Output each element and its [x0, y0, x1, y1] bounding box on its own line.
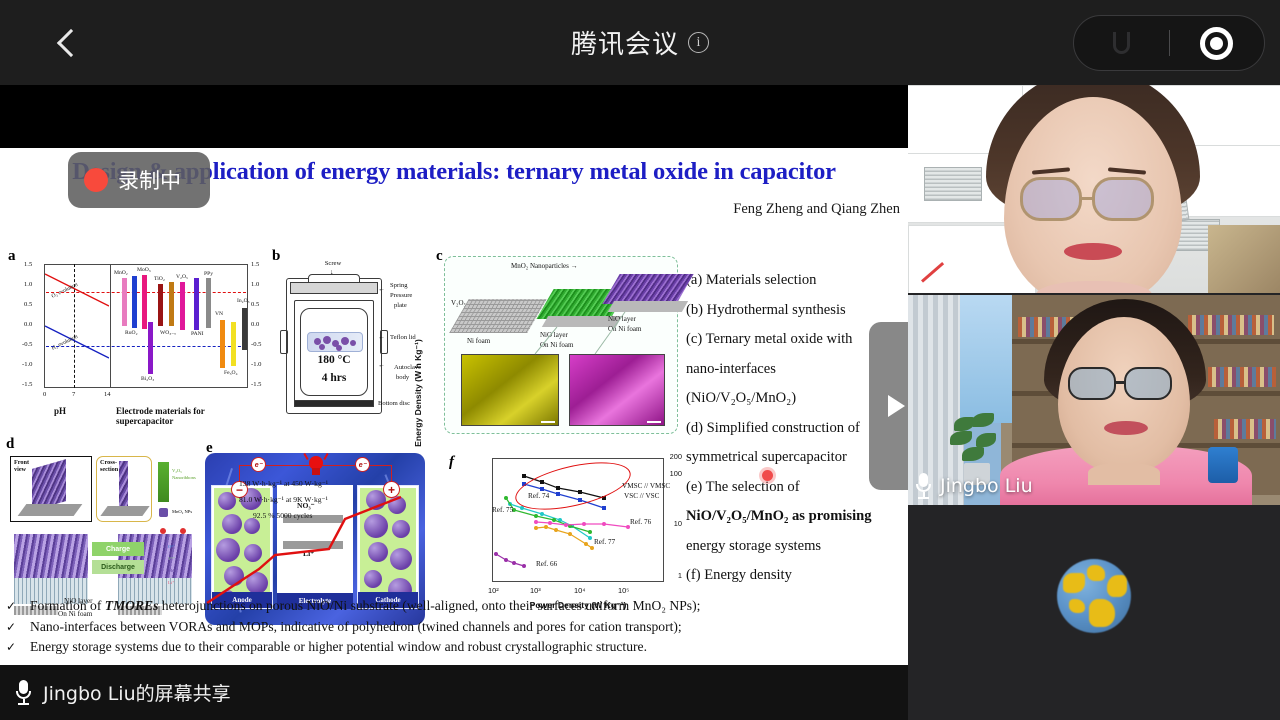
panel-a-bar — [180, 282, 185, 330]
panel-f-series-label: Ref. 75 — [492, 506, 513, 514]
panel-e-ion-label: Li⁺ — [303, 549, 314, 558]
presentation-slide: Design & application of energy materials… — [0, 148, 908, 665]
book-row — [1214, 419, 1276, 439]
panel-a-ytick-right: 1.0 — [251, 281, 259, 288]
panel-c-label: On Ni foam — [540, 341, 573, 350]
recording-label: 录制中 — [118, 165, 181, 195]
panel-c-label: NiO layer — [540, 331, 568, 340]
video-2-name-badge: Jingbo Liu — [916, 473, 1033, 499]
panel-b-bottom-disc — [294, 400, 374, 407]
panel-a-bar — [231, 322, 236, 366]
panel-a-bar-label: MnO₂ — [114, 270, 128, 276]
top-bar: 腾讯会议 i — [0, 0, 1280, 85]
video-tile-2[interactable]: Jingbo Liu — [908, 295, 1280, 505]
panel-a-h2-line — [45, 324, 109, 360]
bullet-text: Nano-interfaces between VORAs and MOPs, … — [30, 617, 682, 638]
panel-a-ytick: 0.0 — [24, 321, 32, 328]
share-status-label: Jingbo Liu的屏幕共享 — [43, 679, 231, 706]
panel-f-xtick: 10⁴ — [574, 586, 585, 595]
panel-a-xtick: 0 — [43, 391, 46, 398]
panel-a-xtick: 14 — [104, 391, 111, 398]
panel-a-ytick-right: 0.0 — [251, 321, 259, 328]
laser-pointer-dot — [762, 470, 773, 481]
panel-d-label: section — [100, 466, 118, 473]
info-icon[interactable]: i — [688, 32, 709, 53]
recording-badge[interactable]: 录制中 — [68, 152, 210, 208]
panel-a-ytick-right: -1.5 — [251, 381, 261, 388]
panel-a-bar-label: MoO₃ — [137, 267, 151, 273]
letterbox-band — [0, 85, 908, 148]
bullet-row: ✓ Formation of TMOREs heterojunctions on… — [6, 596, 906, 617]
slide-bullets: ✓ Formation of TMOREs heterojunctions on… — [6, 596, 906, 658]
panel-c-sem-image-yellow — [461, 354, 559, 426]
eyeglass-lens — [1124, 367, 1172, 400]
panel-d-crystal-left — [14, 534, 88, 578]
neck — [1088, 463, 1160, 485]
panel-a-bar-label: RuO₂ — [125, 330, 138, 336]
video-2-name-label: Jingbo Liu — [940, 475, 1033, 497]
dynamic-island — [1073, 15, 1265, 71]
panel-d-ion-legend: V⁵⁺ — [168, 556, 175, 562]
panel-f-series-label: VSC // VSC — [624, 492, 659, 500]
panel-a-bar — [122, 278, 127, 326]
panel-a-ytick: -1.0 — [22, 361, 32, 368]
panel-a-title: Electrode materials for supercapacitor — [116, 406, 258, 426]
wall-panel — [1208, 225, 1280, 293]
panel-a-bar — [220, 320, 225, 368]
panel-d-legend-label: V₂O₅ — [172, 468, 182, 473]
panel-d-front-substrate — [18, 504, 83, 516]
panel-f-series-label: Ref. 76 — [630, 518, 651, 526]
panel-a-bar — [242, 308, 247, 350]
panel-a-xtick: 7 — [72, 391, 75, 398]
slide-authors: Feng Zheng and Qiang Zhen — [680, 201, 900, 218]
panel-a-ytick: 1.5 — [24, 261, 32, 268]
panel-b-temp: 180 °C — [300, 356, 368, 364]
panel-a-bar-label: PPy — [204, 271, 213, 277]
panel-b-label: Screw — [308, 260, 358, 268]
book-row — [1188, 315, 1274, 335]
panel-a-ytick: 1.0 — [24, 281, 32, 288]
legend-line: (a) Materials selection — [686, 266, 904, 296]
panel-c-mno2-purple-slab — [611, 272, 685, 312]
lips — [1104, 421, 1148, 435]
legend-line: NiO/V₂O₅/MnO₂ as promising — [686, 502, 904, 532]
panel-f-series-label: Ref. 66 — [536, 560, 557, 568]
panel-f-ylabel: Energy Density (W h Kg⁻¹) — [413, 329, 424, 457]
panel-a-bar-label: VN — [215, 311, 223, 317]
panel-e-bulb-icon — [305, 453, 327, 477]
panel-a-xlabel: pH — [54, 406, 66, 416]
panel-b-label: Bottom disc — [378, 400, 438, 408]
panel-d-v2o5-swatch — [158, 462, 169, 502]
share-status-bar: Jingbo Liu的屏幕共享 — [0, 665, 908, 720]
eyeglass-lens — [1020, 177, 1082, 221]
scale-bar — [541, 421, 555, 423]
check-icon: ✓ — [6, 596, 20, 617]
panel-d-ion-legend: Mn⁴⁺ — [168, 568, 178, 574]
panel-a-ytick: -1.5 — [22, 381, 32, 388]
panel-a-h2-level — [46, 346, 246, 347]
panel-a-bar — [206, 278, 211, 328]
panel-a-bar-label: WO₃₋ₓ — [160, 330, 176, 336]
panel-e-electron-node: e⁻ — [251, 457, 266, 472]
panel-e-cation-arrow — [283, 541, 343, 549]
panel-a-o2-line — [45, 272, 109, 308]
bullet-row: ✓ Energy storage systems due to their co… — [6, 637, 906, 658]
panel-c-label: Ni foam — [467, 337, 490, 346]
globe-avatar-icon — [1057, 559, 1131, 633]
panel-a-divider — [110, 264, 111, 388]
legend-line: (b) Hydrothermal synthesis — [686, 296, 904, 326]
panel-d-label: view — [14, 466, 26, 473]
check-icon: ✓ — [6, 637, 20, 658]
left-arrow-icon: ← — [378, 362, 385, 369]
microphone-icon[interactable] — [16, 680, 31, 706]
panel-label-c: c — [436, 248, 443, 265]
panel-b-spring-plate — [290, 282, 378, 294]
eyeglass-lens — [1068, 367, 1116, 400]
panel-c-purple-array — [602, 274, 693, 304]
panel-f-xtick: 10² — [488, 586, 499, 595]
panel-d-cross-substrate — [100, 506, 149, 516]
panel-c-sem-image-magenta — [569, 354, 665, 426]
panel-a-ytick-right: -0.5 — [251, 341, 261, 348]
legend-line: energy storage systems — [686, 532, 904, 562]
panel-label-f: f — [449, 454, 454, 471]
panel-b-label: plate — [394, 302, 440, 310]
panel-a-ytick: -0.5 — [22, 341, 32, 348]
lips — [1064, 243, 1122, 260]
panel-d-legend-label: MnO₂ NPs — [172, 509, 192, 514]
panel-d-cross-wall — [119, 461, 128, 507]
panel-d-ion-legend: Li⁺ — [168, 580, 175, 586]
panel-f-series-label: VMSC // VMSC — [622, 482, 670, 490]
book-row — [1208, 367, 1276, 387]
participant-rail: Jingbo Liu 贾春满 — [908, 85, 1280, 720]
panel-a-ytick: 0.5 — [24, 301, 32, 308]
shared-screen-area[interactable]: Design & application of energy materials… — [0, 85, 908, 665]
panel-e-metric: 92.5 % 5000 cycles — [253, 511, 312, 520]
panel-e-metric: 138 W·h·kg⁻¹ at 450 W·kg⁻¹ — [239, 479, 328, 488]
panel-a-bar — [169, 282, 174, 326]
panel-b-sample — [307, 332, 363, 352]
panel-a-bar — [158, 284, 163, 326]
panel-b-handle-left — [280, 330, 288, 354]
panel-a-bar-label: Bi₂O₃ — [141, 376, 154, 382]
panel-d-ion-legend: O²⁻ — [168, 544, 175, 550]
id-badge — [1208, 447, 1238, 483]
bullet-row: ✓ Nano-interfaces between VORAs and MOPs… — [6, 617, 906, 638]
panel-a-bar-label: PANI — [191, 331, 204, 337]
panel-b-label: Pressure — [390, 292, 436, 300]
panel-a-bar — [142, 275, 147, 329]
panel-a-ytick-right: -1.0 — [251, 361, 261, 368]
bullet-text: Formation of TMOREs heterojunctions on p… — [30, 596, 700, 617]
app-title: 腾讯会议 — [571, 24, 679, 61]
panel-a-bar-label: In₂O₃ — [237, 298, 250, 304]
panel-a-bar — [194, 278, 199, 330]
panel-c-substrate — [608, 301, 688, 312]
island-sensor-area — [1074, 32, 1169, 54]
recording-dot-icon — [84, 168, 108, 192]
panel-b-time: 4 hrs — [300, 374, 368, 382]
panel-c-label: NiO layer — [608, 315, 636, 324]
microphone-icon — [916, 473, 931, 499]
panel-f-series-label: Ref. 77 — [594, 538, 615, 546]
play-triangle-icon — [888, 395, 905, 417]
panel-e-cathode-electrode: Cathode — [357, 485, 419, 609]
eyeglass-bridge — [1114, 381, 1126, 384]
bullet-text: Energy storage systems due to their comp… — [30, 637, 647, 658]
panel-a-bar — [148, 322, 153, 374]
legend-line: (f) Energy density — [686, 561, 904, 591]
eyeglass-lens — [1092, 177, 1154, 221]
video-tile-1[interactable] — [908, 85, 1280, 293]
panel-a-bar-label: V₂O₅ — [176, 274, 188, 280]
panel-d-mno2-swatch — [159, 508, 168, 517]
left-arrow-icon: ← — [378, 334, 385, 341]
panel-c-label: MnO₂ Nanoparticles → — [511, 262, 578, 271]
proximity-sensor-icon — [1113, 32, 1130, 54]
panel-e-electron-node: e⁻ — [355, 457, 370, 472]
window — [960, 295, 1012, 423]
island-camera-area — [1170, 27, 1265, 60]
panel-a-ytick-right: 0.5 — [251, 301, 259, 308]
panel-e-positive-terminal: + — [383, 481, 400, 498]
ceiling-vent — [924, 167, 982, 201]
panel-d-legend-label: Nanoribbons — [172, 475, 196, 480]
eyeglass-bridge — [1082, 197, 1092, 200]
left-arrow-icon: ← — [378, 286, 385, 293]
meeting-screen: 腾讯会议 i Design & application of energy ma… — [0, 0, 1280, 720]
panel-c-label: On Ni foam — [608, 325, 641, 334]
panel-a-chart: Potential (V, vs SHE) 1.5 1.0 0.5 0.0 -0… — [8, 260, 258, 425]
panel-a-bar-label: TiO₂ — [154, 276, 165, 282]
panel-b-label: Spring — [390, 282, 436, 290]
check-icon: ✓ — [6, 617, 20, 638]
panel-a-bar — [132, 276, 137, 328]
avatar-tile[interactable] — [908, 507, 1280, 685]
panel-f-series-label: Ref. 74 — [528, 492, 549, 500]
panel-e-metric: 81.0 W·h·kg⁻¹ at 9K W·kg⁻¹ — [239, 495, 328, 504]
panel-c-sem: MnO₂ Nanoparticles → V₂O₅ ribbon arrays … — [444, 256, 678, 434]
panel-d-charge-arrow: Charge — [92, 542, 144, 556]
panel-f-xtick: 10³ — [530, 586, 541, 595]
panel-a-bar-label: Fe₃O₄ — [224, 370, 238, 376]
scale-bar — [647, 421, 661, 423]
panel-f-xtick: 10⁵ — [618, 586, 629, 595]
panel-d-discharge-arrow: Discharge — [92, 560, 144, 574]
front-camera-icon — [1200, 27, 1233, 60]
panel-a-ytick-right: 1.5 — [251, 261, 259, 268]
